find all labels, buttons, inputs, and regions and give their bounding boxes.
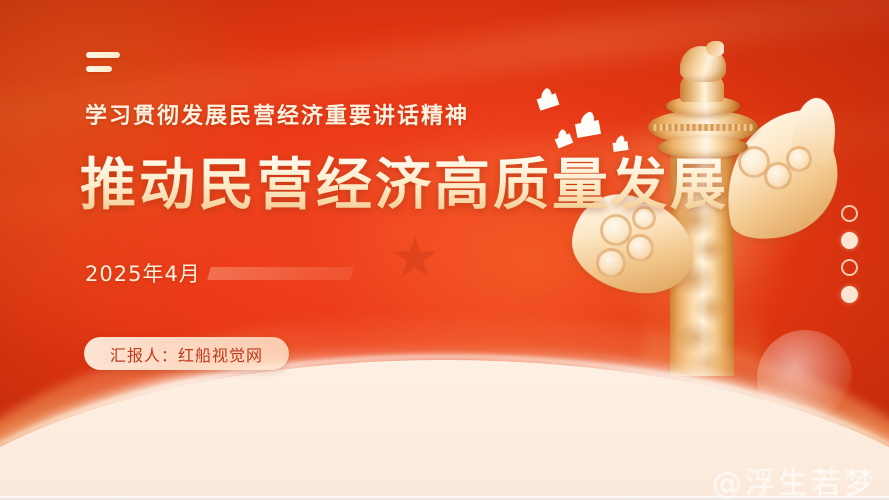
deco-bar-top — [86, 52, 120, 58]
slide-dot-navigation[interactable] — [841, 205, 858, 303]
cloud-curl — [596, 248, 626, 278]
dot-nav-item-4[interactable] — [841, 286, 858, 303]
dot-nav-item-3[interactable] — [841, 259, 858, 276]
slide-main-title: 推动民营经济高质量发展 — [80, 155, 729, 215]
swoosh-light-orb — [757, 330, 853, 426]
date-accent-bar — [207, 267, 354, 280]
cloud-curl — [626, 234, 654, 262]
cloud-curl — [786, 146, 812, 172]
slide-date-row: 2025年4月 — [85, 258, 352, 288]
presentation-slide: 学习贯彻发展民营经济重要讲话精神 推动民营经济高质量发展 2025年4月 汇报人… — [0, 0, 889, 500]
huabiao-beast-icon — [680, 46, 726, 82]
dot-nav-item-2[interactable] — [841, 232, 858, 249]
watermark-text: @浮生若梦 — [712, 458, 877, 500]
double-bar-mark-icon — [86, 52, 120, 72]
slide-date: 2025年4月 — [85, 258, 201, 288]
deco-bar-bottom — [86, 66, 112, 72]
presenter-label: 汇报人：红船视觉网 — [110, 342, 263, 366]
huabiao-bead-band — [652, 124, 754, 131]
presenter-badge: 汇报人：红船视觉网 — [84, 337, 289, 370]
slide-subtitle: 学习贯彻发展民营经济重要讲话精神 — [85, 98, 469, 130]
dot-nav-item-1[interactable] — [841, 205, 858, 222]
